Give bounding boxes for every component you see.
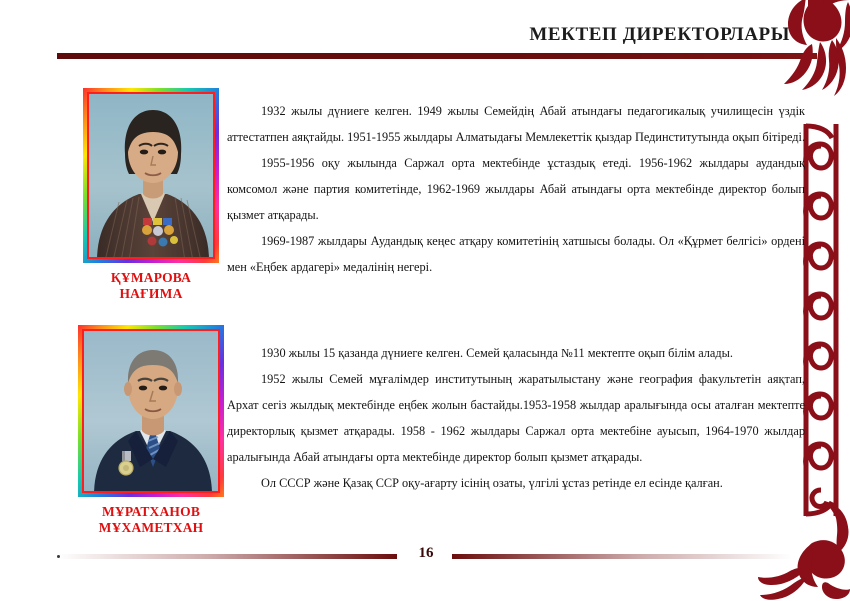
header-rule: [57, 53, 817, 59]
caption-line-1: ҚҰМАРОВА: [83, 270, 219, 286]
paragraph: 1932 жылы дүниеге келген. 1949 жылы Семе…: [227, 98, 805, 150]
portrait-card-kumarova-nagima: ҚҰМАРОВА НАҒИМА: [83, 88, 219, 302]
paragraph: Ол СССР және Қазақ ССР оқу-ағарту ісінің…: [227, 470, 805, 496]
paragraph: 1969-1987 жылдары Аудандық кеңес атқару …: [227, 228, 805, 280]
portrait-card-muratkhanov-mukhametkhan: МҰРАТХАНОВ МҰХАМЕТХАН: [78, 325, 224, 536]
biography-text-muratkhanov-mukhametkhan: 1930 жылы 15 қазанда дүниеге келген. Сем…: [227, 340, 805, 496]
footer-rule-right: [452, 554, 792, 559]
floral-corner-ornament-top-right: [762, 0, 850, 100]
paragraph: 1955-1956 оқу жылында Саржал орта мектеб…: [227, 150, 805, 228]
caption-line-1: МҰРАТХАНОВ: [78, 504, 224, 520]
biography-text-kumarova-nagima: 1932 жылы дүниеге келген. 1949 жылы Семе…: [227, 98, 805, 280]
portrait-image-kumarova-nagima: [87, 92, 215, 259]
portrait-caption-muratkhanov-mukhametkhan: МҰРАТХАНОВ МҰХАМЕТХАН: [78, 504, 224, 536]
portrait-caption-kumarova-nagima: ҚҰМАРОВА НАҒИМА: [83, 270, 219, 302]
paragraph: 1952 жылы Семей мұғалімдер институтының …: [227, 366, 805, 470]
footer-rule-left: [57, 554, 397, 559]
portrait-photo-woman: [89, 94, 215, 259]
portrait-image-muratkhanov-mukhametkhan: [82, 329, 220, 493]
page-number: 16: [404, 545, 448, 562]
caption-line-2: МҰХАМЕТХАН: [78, 520, 224, 536]
page-title: МЕКТЕП ДИРЕКТОРЛАРЫ: [430, 24, 790, 46]
paragraph: 1930 жылы 15 қазанда дүниеге келген. Сем…: [227, 340, 805, 366]
caption-line-2: НАҒИМА: [83, 286, 219, 302]
portrait-rainbow-frame: [83, 88, 219, 263]
portrait-photo-man: [84, 331, 220, 493]
page-footer: 16: [0, 545, 850, 567]
portrait-rainbow-frame: [78, 325, 224, 497]
slide-page: МЕКТЕП ДИРЕКТОРЛАРЫ: [0, 0, 850, 601]
